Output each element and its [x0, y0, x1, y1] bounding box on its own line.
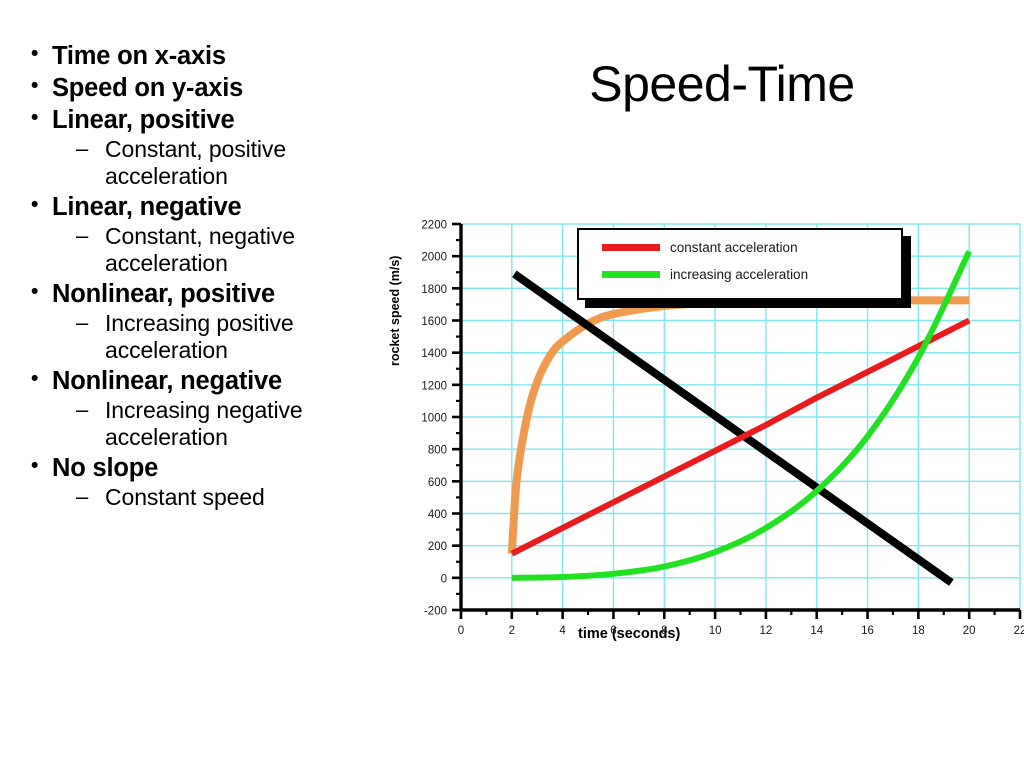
x-tick-label: 22: [1014, 625, 1024, 637]
legend-item: constant acceleration: [602, 240, 798, 255]
x-tick-label: 10: [709, 625, 722, 637]
legend-swatch-constant-acceleration: [602, 244, 660, 251]
bullet-dot-icon: •: [22, 104, 52, 132]
y-tick-label: 1600: [421, 316, 447, 328]
y-tick-label: 1200: [421, 380, 447, 392]
bullet-dot-icon: •: [22, 72, 52, 100]
bullet-dash-icon: –: [76, 136, 105, 162]
bullet-text: Speed on y-axis: [52, 72, 414, 103]
x-tick-label: 16: [861, 625, 874, 637]
bullet-item-level1: •Time on x-axis: [22, 40, 414, 71]
y-tick-label: 200: [428, 541, 447, 553]
bullet-dash-icon: –: [76, 223, 105, 249]
bullet-text: Linear, negative: [52, 191, 414, 222]
bullet-item-level1: •Linear, positive: [22, 104, 414, 135]
bullet-dash-icon: –: [76, 310, 105, 336]
bullet-item-level1: •Nonlinear, negative: [22, 365, 414, 396]
x-tick-label: 18: [912, 625, 925, 637]
bullet-item-level2: –Increasing negative acceleration: [76, 397, 414, 451]
y-tick-label: 800: [428, 445, 447, 457]
bullet-text: Nonlinear, positive: [52, 278, 414, 309]
bullet-item-level2: –Constant, positive acceleration: [76, 136, 414, 190]
y-tick-label: 2000: [421, 252, 447, 264]
y-tick-label: 1800: [421, 284, 447, 296]
bullet-text: Constant, positive acceleration: [105, 136, 414, 190]
speed-time-chart: rocket speed (m/s) time (seconds) -20002…: [392, 216, 1024, 654]
y-tick-label: 0: [441, 573, 447, 585]
y-tick-label: 400: [428, 509, 447, 521]
bullet-item-level1: •Speed on y-axis: [22, 72, 414, 103]
bullet-dot-icon: •: [22, 40, 52, 68]
bullet-text: Increasing negative acceleration: [105, 397, 414, 451]
y-tick-label: 1400: [421, 348, 447, 360]
bullet-text: Constant, negative acceleration: [105, 223, 414, 277]
x-tick-label: 14: [810, 625, 823, 637]
bullet-dot-icon: •: [22, 452, 52, 480]
x-tick-label: 0: [458, 625, 464, 637]
x-tick-label: 8: [661, 625, 667, 637]
bullet-list: •Time on x-axis•Speed on y-axis•Linear, …: [22, 40, 414, 512]
legend-item: increasing acceleration: [602, 267, 808, 282]
x-tick-label: 12: [760, 625, 773, 637]
slide: •Time on x-axis•Speed on y-axis•Linear, …: [0, 0, 1024, 768]
bullet-dash-icon: –: [76, 484, 105, 510]
bullet-text: Increasing positive acceleration: [105, 310, 414, 364]
legend-swatch-increasing-acceleration: [602, 271, 660, 278]
bullet-text: No slope: [52, 452, 414, 483]
bullet-text: Linear, positive: [52, 104, 414, 135]
bullet-text: Nonlinear, negative: [52, 365, 414, 396]
bullet-item-level2: –Constant speed: [76, 484, 414, 511]
bullet-item-level2: –Constant, negative acceleration: [76, 223, 414, 277]
bullet-dot-icon: •: [22, 191, 52, 219]
bullet-text: Constant speed: [105, 484, 414, 511]
x-tick-label: 20: [963, 625, 976, 637]
legend-label: constant acceleration: [670, 240, 798, 255]
y-tick-label: -200: [424, 606, 447, 618]
y-tick-label: 1000: [421, 413, 447, 425]
x-tick-label: 2: [509, 625, 515, 637]
x-tick-label: 4: [559, 625, 566, 637]
chart-legend: constant acceleration increasing acceler…: [577, 228, 903, 300]
bullet-text: Time on x-axis: [52, 40, 414, 71]
bullet-dash-icon: –: [76, 397, 105, 423]
y-tick-label: 2200: [421, 220, 447, 232]
bullet-item-level1: •Nonlinear, positive: [22, 278, 414, 309]
page-title: Speed-Time: [430, 57, 1014, 112]
bullet-dot-icon: •: [22, 365, 52, 393]
bullet-item-level2: –Increasing positive acceleration: [76, 310, 414, 364]
y-tick-label: 600: [428, 477, 447, 489]
bullet-dot-icon: •: [22, 278, 52, 306]
legend-label: increasing acceleration: [670, 267, 808, 282]
bullet-item-level1: •No slope: [22, 452, 414, 483]
x-tick-label: 6: [610, 625, 616, 637]
bullet-item-level1: •Linear, negative: [22, 191, 414, 222]
